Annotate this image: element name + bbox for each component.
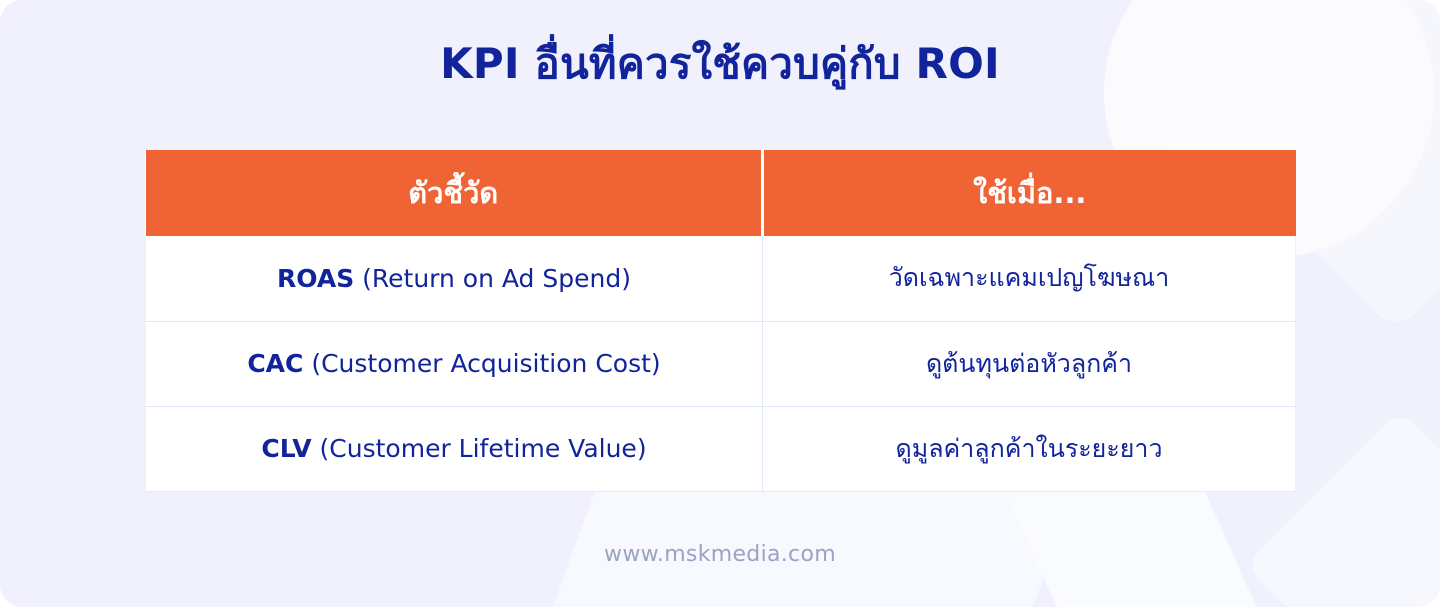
table-row: CLV (Customer Lifetime Value) ดูมูลค่าลู…: [146, 406, 1296, 491]
page-title: KPI อื่นที่ควรใช้ควบคู่กับ ROI: [0, 38, 1440, 91]
kpi-table: ตัวชี้วัด ใช้เมื่อ... ROAS (Return on Ad…: [145, 150, 1296, 492]
metric-abbreviation: CLV: [261, 434, 311, 463]
table-row: ROAS (Return on Ad Spend) วัดเฉพาะแคมเปญ…: [146, 236, 1296, 321]
table-header: ตัวชี้วัด ใช้เมื่อ...: [146, 150, 1296, 236]
cell-when: ดูมูลค่าลูกค้าในระยะยาว: [763, 406, 1296, 491]
table-header-row: ตัวชี้วัด ใช้เมื่อ...: [146, 150, 1296, 236]
cell-when: ดูต้นทุนต่อหัวลูกค้า: [763, 321, 1296, 406]
cell-metric: ROAS (Return on Ad Spend): [146, 236, 763, 321]
table-row: CAC (Customer Acquisition Cost) ดูต้นทุน…: [146, 321, 1296, 406]
cell-when: วัดเฉพาะแคมเปญโฆษณา: [763, 236, 1296, 321]
metric-abbreviation: ROAS: [277, 264, 354, 293]
table-body: ROAS (Return on Ad Spend) วัดเฉพาะแคมเปญ…: [146, 236, 1296, 491]
column-header-metric: ตัวชี้วัด: [146, 150, 763, 236]
metric-full-name: (Return on Ad Spend): [354, 264, 631, 293]
cell-metric: CLV (Customer Lifetime Value): [146, 406, 763, 491]
footer-website: www.mskmedia.com: [0, 542, 1440, 567]
metric-abbreviation: CAC: [247, 349, 303, 378]
column-header-when: ใช้เมื่อ...: [763, 150, 1296, 236]
metric-full-name: (Customer Lifetime Value): [312, 434, 647, 463]
cell-metric: CAC (Customer Acquisition Cost): [146, 321, 763, 406]
metric-full-name: (Customer Acquisition Cost): [303, 349, 660, 378]
slide-container: KPI อื่นที่ควรใช้ควบคู่กับ ROI ตัวชี้วัด…: [0, 0, 1440, 607]
